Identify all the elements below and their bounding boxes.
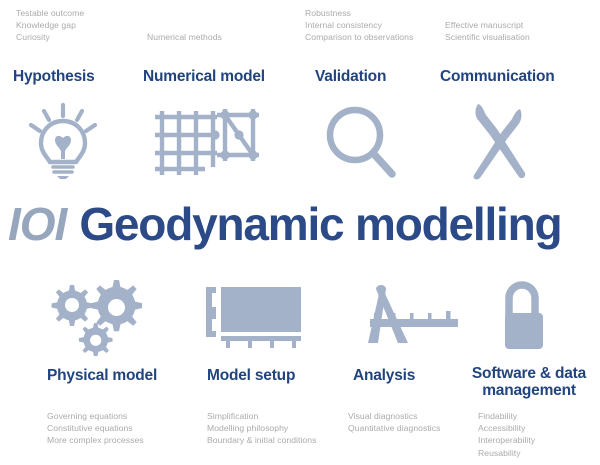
bullet-item: Numerical methods (147, 31, 222, 43)
bullets-communication: Effective manuscript Scientific visualis… (445, 19, 530, 43)
bullet-item: Visual diagnostics (348, 410, 440, 422)
bullet-item: Internal consistency (305, 19, 413, 31)
model-box-icon (203, 285, 305, 348)
page-title: IOI Geodynamic modelling (0, 193, 600, 255)
bullet-item: Simplification (207, 410, 316, 422)
infographic-canvas: Testable outcome Knowledge gap Curiosity… (0, 0, 600, 465)
bullet-item: Scientific visualisation (445, 31, 530, 43)
brush-and-pen-icon (463, 101, 535, 181)
bullet-item: Testable outcome (16, 7, 84, 19)
bullet-item: Boundary & initial conditions (207, 434, 316, 446)
heading-communication: Communication (440, 69, 555, 85)
heading-hypothesis: Hypothesis (13, 69, 95, 85)
open-padlock-icon (492, 281, 552, 353)
gears-icon (48, 276, 158, 356)
heading-physical-model: Physical model (47, 368, 157, 384)
ioi-logo: IOI (8, 201, 66, 247)
bullets-hypothesis: Testable outcome Knowledge gap Curiosity (16, 7, 84, 44)
bullet-item: Accessibility (478, 422, 535, 434)
bullet-item: Findability (478, 410, 535, 422)
bullets-model-setup: Simplification Modelling philosophy Boun… (207, 410, 316, 447)
heading-numerical-model: Numerical model (143, 69, 265, 85)
bullets-physical-model: Governing equations Constitutive equatio… (47, 410, 144, 447)
bullets-validation: Robustness Internal consistency Comparis… (305, 7, 413, 44)
lightbulb-icon (22, 101, 104, 181)
bullet-item: Reusability (478, 447, 535, 459)
bullet-item: Robustness (305, 7, 413, 19)
bullet-item: Curiosity (16, 31, 84, 43)
bullets-software-data-management: Findability Accessibility Interoperabili… (478, 410, 535, 459)
magnifying-glass-icon (323, 103, 399, 181)
bullet-item: More complex processes (47, 434, 144, 446)
heading-software-data-management: Software & data management (462, 366, 596, 399)
bullet-item: Knowledge gap (16, 19, 84, 31)
heading-model-setup: Model setup (207, 368, 295, 384)
compass-ruler-icon (356, 283, 460, 349)
bullet-item: Comparison to observations (305, 31, 413, 43)
bullet-item: Interoperability (478, 434, 535, 446)
mesh-grid-icon (155, 105, 260, 180)
bullet-item: Constitutive equations (47, 422, 144, 434)
bullet-item: Quantitative diagnostics (348, 422, 440, 434)
heading-validation: Validation (315, 69, 386, 85)
heading-analysis: Analysis (353, 368, 415, 384)
bullet-item: Governing equations (47, 410, 144, 422)
bullets-analysis: Visual diagnostics Quantitative diagnost… (348, 410, 440, 434)
title-text: Geodynamic modelling (79, 201, 561, 247)
bullet-item: Effective manuscript (445, 19, 530, 31)
bullets-numerical-model: Numerical methods (147, 31, 222, 43)
bullet-item: Modelling philosophy (207, 422, 316, 434)
